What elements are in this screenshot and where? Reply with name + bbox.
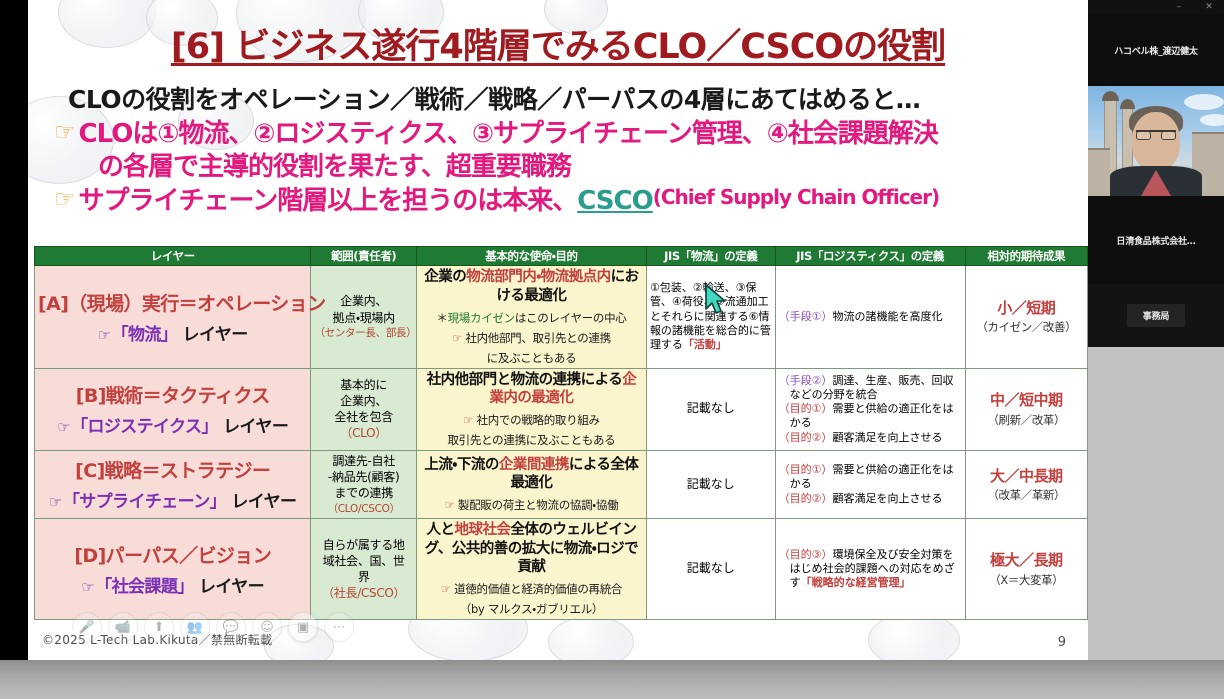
cell-jis-butsuryu-b: 記載なし xyxy=(646,368,775,451)
table-body: [A]（現場）実行＝オペレーション☞「物流」 レイヤー企業内、拠点・現場内（セン… xyxy=(35,266,1088,620)
jis-logistics-item: （目的③）環境保全及び安全対策をはじめ社会的課題への対応をめざす「戦略的な経営管… xyxy=(779,548,962,591)
scope-owner: （センター長、部長） xyxy=(314,326,413,340)
jis-butsuryu-text: 記載なし xyxy=(687,401,735,415)
curved-arrow-icon: ☞ xyxy=(81,578,94,596)
cell-scope-a: 企業内、拠点・現場内（センター長、部長） xyxy=(311,266,417,369)
bullet-item-1-text: CLOは①物流、②ロジスティクス、③サプライチェーン管理、④社会課題解決 xyxy=(79,118,938,151)
taskbar-area xyxy=(0,660,1224,699)
mission-note: ☞ 道徳的価値と経済的価値の再統合 xyxy=(420,582,643,597)
jis-logistics-item: （目的①）需要と供給の適正化をはかる xyxy=(779,463,962,492)
curved-arrow-icon: ☞ xyxy=(463,413,473,427)
bullet-item-3-text: サプライチェーン階層以上を担うのは本来、 xyxy=(79,185,578,218)
mission-note: に及ぶこともある xyxy=(420,351,643,366)
layer-keyword: 「物流」 xyxy=(112,325,178,345)
scope-line: 界 xyxy=(314,569,413,585)
header-layer: レイヤー xyxy=(35,247,311,266)
close-icon[interactable]: ✕ xyxy=(1204,2,1214,12)
jis-logistics-item: （目的②）顧客満足を向上させる xyxy=(779,431,962,445)
mission-headline: 人と地球社会全体のウェルビイング、公共的善の拡大に物流・ロジで貢献 xyxy=(420,521,643,578)
header-scope: 範囲(責任者) xyxy=(311,247,417,266)
participant-name-3: 事務局 xyxy=(1127,304,1185,327)
share-button[interactable]: ⬆ xyxy=(144,612,174,642)
csco-expansion: (Chief Supply Chain Officer) xyxy=(653,185,939,211)
header-mission: 基本的な使命・目的 xyxy=(416,247,646,266)
layer-keyword: 「サプライチェーン」 xyxy=(63,492,226,512)
scope-line: 域社会、国、世 xyxy=(314,553,413,569)
header-expected-effect: 相対的期待成果 xyxy=(965,247,1087,266)
scope-line: 自らが属する地 xyxy=(314,537,413,553)
mission-note: ☞ 社内他部門、取引先との連携 xyxy=(420,331,643,346)
layer-subtitle: ☞「ロジステイクス」 レイヤー xyxy=(38,412,307,437)
participant-tile-2[interactable]: 日清食品株式会社… xyxy=(1088,196,1224,284)
video-panel-titlebar[interactable]: – ✕ xyxy=(1088,0,1224,14)
effect-sub: （X＝大変革） xyxy=(969,572,1084,589)
cell-jis-logistics-b: （手段②）調達、生産、販売、回収などの分野を統合（目的①）需要と供給の適正化をは… xyxy=(775,368,965,451)
scope-owner: （CLO） xyxy=(314,425,413,441)
curved-arrow-icon: ☞ xyxy=(452,331,462,345)
webcam-thumbnail xyxy=(1088,86,1224,196)
layer-title: [B]戦術＝タクティクス xyxy=(38,381,307,408)
curved-arrow-icon: ☞ xyxy=(57,418,70,436)
reaction-button[interactable]: ☺ xyxy=(252,612,282,642)
meeting-controlbar-wrap: 🎤📹⬆👥💬☺▣⋯ xyxy=(28,600,1088,660)
bullet-list: ☞ CLOは①物流、②ロジスティクス、③サプライチェーン管理、④社会課題解決 の… xyxy=(54,118,1088,218)
mission-note: ☞ 製配販の荷主と物流の協調・協働 xyxy=(420,498,643,513)
participant-tile-3[interactable]: 事務局 xyxy=(1088,284,1224,347)
scope-line: までの連携 xyxy=(314,485,413,501)
jis-butsuryu-text: 記載なし xyxy=(687,477,735,491)
effect-main: 中／短中期 xyxy=(969,389,1084,412)
scope-line: -納品先(顧客) xyxy=(314,469,413,485)
layer-role-table: レイヤー 範囲(責任者) 基本的な使命・目的 JIS「物流」の定義 JIS「ロジ… xyxy=(34,246,1088,620)
video-button[interactable]: 📹 xyxy=(108,612,138,642)
participant-tile-video[interactable] xyxy=(1088,86,1224,196)
layer-suffix: レイヤー xyxy=(218,417,288,437)
cell-effect-c: 大／中長期（改革／革新） xyxy=(965,451,1087,519)
table-row: [C]戦略＝ストラテジー☞「サプライチェーン」 レイヤー調達先-自社-納品先(顧… xyxy=(35,451,1088,519)
curved-arrow-icon: ☞ xyxy=(98,326,111,344)
desktop-root: [6] ビジネス遂行4階層でみるCLO／CSCOの役割 CLOの役割をオペレーシ… xyxy=(0,0,1224,699)
cell-jis-butsuryu-c: 記載なし xyxy=(646,451,775,519)
header-jis-logistics: JIS「ロジスティクス」の定義 xyxy=(775,247,965,266)
header-jis-butsuryu: JIS「物流」の定義 xyxy=(646,247,775,266)
jis-logistics-item: （目的②）顧客満足を向上させる xyxy=(779,492,962,506)
curved-arrow-icon: ☞ xyxy=(49,493,62,511)
scope-line: 調達先-自社 xyxy=(314,453,413,469)
mission-headline: 社内他部門と物流の連携による企業内の最適化 xyxy=(420,371,643,409)
jis-logistics-item: （手段②）調達、生産、販売、回収などの分野を統合 xyxy=(779,374,962,403)
jis-logistics-highlight: 「戦略的な経営管理」 xyxy=(801,576,911,589)
layer-subtitle: ☞「物流」 レイヤー xyxy=(38,320,307,345)
pointing-hand-icon: ☞ xyxy=(54,118,75,147)
layer-title: [C]戦略＝ストラテジー xyxy=(38,456,307,483)
cell-layer-a: [A]（現場）実行＝オペレーション☞「物流」 レイヤー xyxy=(35,266,311,369)
scope-line: 企業内、 xyxy=(314,293,413,309)
jis-butsuryu-highlight: 「活動」 xyxy=(683,338,727,351)
slide-title: [6] ビジネス遂行4階層でみるCLO／CSCOの役割 xyxy=(28,18,1088,69)
bullet-item-2: の各層で主導的役割を果たす、超重要職務 xyxy=(54,151,1088,184)
participant-name-1: ハコベル株_渡辺健太 xyxy=(1114,44,1198,57)
meeting-control-bar[interactable]: 🎤📹⬆👥💬☺▣⋯ xyxy=(72,612,354,642)
cell-scope-b: 基本的に企業内、全社を包含（CLO） xyxy=(311,368,417,451)
curved-arrow-icon: ☞ xyxy=(445,498,455,512)
cell-mission-b: 社内他部門と物流の連携による企業内の最適化☞ 社内での戦略的取り組み取引先との連… xyxy=(416,368,646,451)
mission-note: 取引先との連携に及ぶこともある xyxy=(420,433,643,448)
scope-line: 企業内、 xyxy=(314,393,413,409)
layer-keyword: 「ロジステイクス」 xyxy=(71,417,218,437)
pointing-hand-icon: ☞ xyxy=(54,185,75,214)
effect-main: 大／中長期 xyxy=(969,465,1084,488)
cell-effect-a: 小／短期（カイゼン／改善） xyxy=(965,266,1087,369)
layer-title: [D]パーパス／ビジョン xyxy=(38,541,307,568)
mission-headline: 上流・下流の企業間連携による全体最適化 xyxy=(420,456,643,494)
effect-sub: （改革／革新） xyxy=(969,487,1084,504)
jis-butsuryu-text: 記載なし xyxy=(687,561,735,575)
scope-owner: （社長/CSCO） xyxy=(314,585,413,601)
participant-tile-1[interactable]: ハコベル株_渡辺健太 xyxy=(1088,14,1224,86)
participant-name-2: 日清食品株式会社… xyxy=(1116,234,1195,247)
mission-note: ＊現場カイゼンはこのレイヤーの中心 xyxy=(420,311,643,326)
effect-sub: （カイゼン／改善） xyxy=(969,319,1084,336)
bullet-item-2-text: の各層で主導的役割を果たす、超重要職務 xyxy=(98,151,571,184)
mission-headline: 企業の物流部門内・物流拠点内における最適化 xyxy=(420,268,643,306)
shared-slide: [6] ビジネス遂行4階層でみるCLO／CSCOの役割 CLOの役割をオペレーシ… xyxy=(28,0,1088,660)
camera-toggle-button[interactable]: ▣ xyxy=(288,612,318,642)
bullet-item-3: ☞ サプライチェーン階層以上を担うのは本来、 CSCO (Chief Suppl… xyxy=(54,185,1088,218)
layer-subtitle: ☞「社会課題」 レイヤー xyxy=(38,572,307,597)
effect-main: 小／短期 xyxy=(969,297,1084,320)
cell-jis-logistics-a: （手段①）物流の諸機能を高度化 xyxy=(775,266,965,369)
cell-layer-c: [C]戦略＝ストラテジー☞「サプライチェーン」 レイヤー xyxy=(35,451,311,519)
letterbox-left xyxy=(0,0,28,660)
effect-main: 極大／長期 xyxy=(969,549,1084,572)
cell-mission-c: 上流・下流の企業間連携による全体最適化☞ 製配販の荷主と物流の協調・協働 xyxy=(416,451,646,519)
cell-scope-c: 調達先-自社-納品先(顧客)までの連携（CLO/CSCO） xyxy=(311,451,417,519)
table-row: [A]（現場）実行＝オペレーション☞「物流」 レイヤー企業内、拠点・現場内（セン… xyxy=(35,266,1088,369)
minimize-icon[interactable]: – xyxy=(1174,2,1184,12)
layer-suffix: レイヤー xyxy=(177,325,247,345)
participants-button[interactable]: 👥 xyxy=(180,612,210,642)
layer-suffix: レイヤー xyxy=(194,577,264,597)
more-options-button[interactable]: ⋯ xyxy=(324,612,354,642)
chat-button[interactable]: 💬 xyxy=(216,612,246,642)
jis-logistics-item: （手段①）物流の諸機能を高度化 xyxy=(779,310,962,324)
layer-keyword: 「社会課題」 xyxy=(95,577,193,597)
table-header-row: レイヤー 範囲(責任者) 基本的な使命・目的 JIS「物流」の定義 JIS「ロジ… xyxy=(35,247,1088,266)
cell-effect-b: 中／短中期（刷新／改革） xyxy=(965,368,1087,451)
effect-sub: （刷新／改革） xyxy=(969,412,1084,429)
cell-jis-butsuryu-a: ①包装、②輸送、③保管、④荷役、⑤流通加工とそれらに関連する⑥情報の諸機能を総合… xyxy=(646,266,775,369)
jis-logistics-item: （目的①）需要と供給の適正化をはかる xyxy=(779,402,962,431)
mic-button[interactable]: 🎤 xyxy=(72,612,102,642)
scope-line: 拠点・現場内 xyxy=(314,310,413,326)
cell-layer-b: [B]戦術＝タクティクス☞「ロジステイクス」 レイヤー xyxy=(35,368,311,451)
layer-subtitle: ☞「サプライチェーン」 レイヤー xyxy=(38,487,307,512)
layer-suffix: レイヤー xyxy=(226,492,296,512)
slide-lead-text: CLOの役割をオペレーション／戦術／戦略／パーパスの4層にあてはめると… xyxy=(68,80,1078,116)
csco-emphasis: CSCO xyxy=(577,185,652,218)
scope-owner: （CLO/CSCO） xyxy=(314,502,413,516)
layer-title: [A]（現場）実行＝オペレーション xyxy=(38,289,307,316)
mission-note: ☞ 社内での戦略的取り組み xyxy=(420,413,643,428)
bullet-item-1: ☞ CLOは①物流、②ロジスティクス、③サプライチェーン管理、④社会課題解決 xyxy=(54,118,1088,151)
table-row: [B]戦術＝タクティクス☞「ロジステイクス」 レイヤー基本的に企業内、全社を包含… xyxy=(35,368,1088,451)
curved-arrow-icon: ☞ xyxy=(441,582,451,596)
scope-line: 全社を包含 xyxy=(314,409,413,425)
cell-mission-a: 企業の物流部門内・物流拠点内における最適化＊現場カイゼンはこのレイヤーの中心☞ … xyxy=(416,266,646,369)
video-gallery-panel[interactable]: – ✕ ハコベル株_渡辺健太 日清食品株式会社… xyxy=(1088,0,1224,347)
cell-jis-logistics-c: （目的①）需要と供給の適正化をはかる（目的②）顧客満足を向上させる xyxy=(775,451,965,519)
scope-line: 基本的に xyxy=(314,377,413,393)
